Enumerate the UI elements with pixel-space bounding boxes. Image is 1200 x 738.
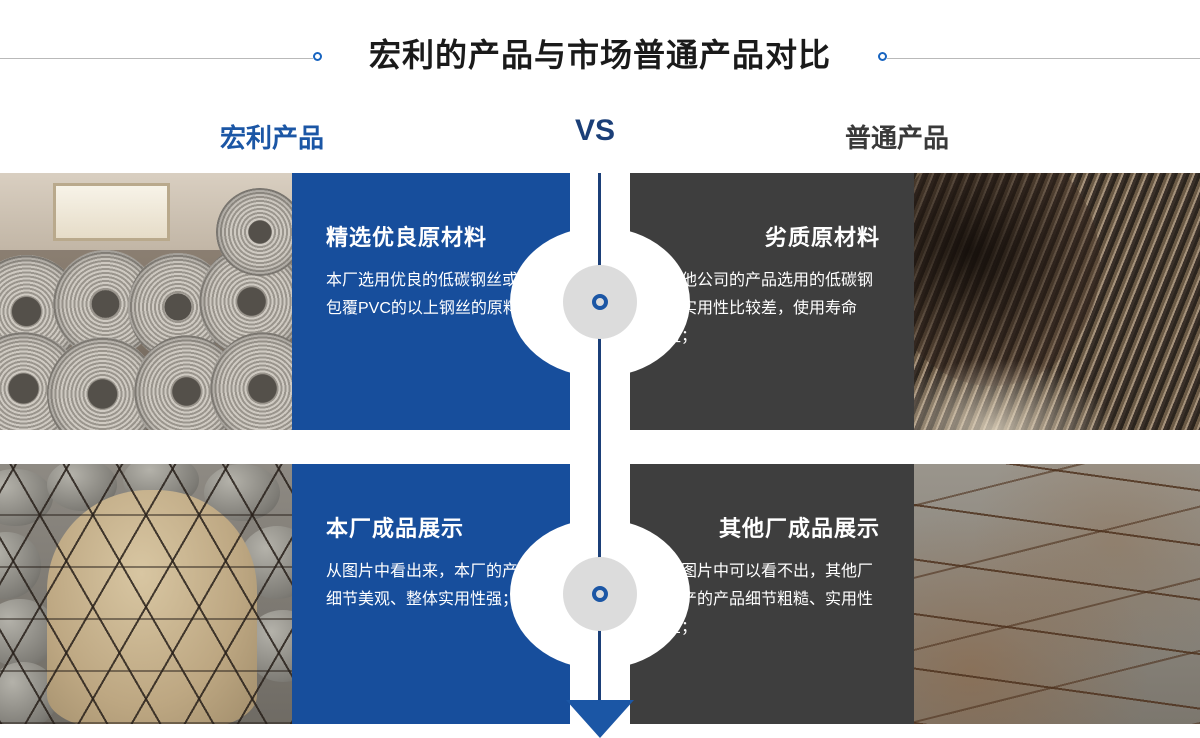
triangle-down-icon [566,700,634,738]
panel-body: 本厂选用优良的低碳钢丝或者包覆PVC的以上钢丝的原料； [326,267,536,323]
photo-left-row-1 [0,173,292,430]
center-divider-line [598,173,601,713]
circle-outline-icon-right [878,52,887,61]
panel-title: 其他厂成品展示 [664,516,880,542]
circle-node-icon-row-1 [563,265,637,339]
panel-body: 从图片中看出来，本厂的产品细节美观、整体实用性强； [326,558,536,614]
panel-body: 其他公司的产品选用的低碳钢丝实用性比较差，使用寿命短； [665,267,880,351]
inner-ring-icon [592,294,608,310]
panel-left-row-2: 本厂成品展示 从图片中看出来，本厂的产品细节美观、整体实用性强； [292,464,570,724]
comparison-infographic: 宏利的产品与市场普通产品对比 宏利产品 VS 普通产品 精选优良原材料 [0,0,1200,738]
panel-right-row-2: 其他厂成品展示 从图片中可以看不出，其他厂生产的产品细节粗糙、实用性差； [630,464,914,724]
photo-right-row-1 [914,173,1200,430]
title-section: 宏利的产品与市场普通产品对比 [0,0,1200,112]
panel-title: 劣质原材料 [664,225,880,251]
panel-right-row-1: 劣质原材料 其他公司的产品选用的低碳钢丝实用性比较差，使用寿命短； [630,173,914,430]
circle-node-icon-row-2 [563,557,637,631]
panel-title: 本厂成品展示 [326,516,536,542]
panel-body: 从图片中可以看不出，其他厂生产的产品细节粗糙、实用性差； [665,558,880,642]
inner-ring-icon [592,586,608,602]
column-heading-left: 宏利产品 [220,118,324,155]
column-heading-right: 普通产品 [845,118,949,155]
photo-right-row-2 [914,464,1200,724]
panel-title: 精选优良原材料 [326,225,536,251]
versus-label: VS [575,114,615,148]
page-title: 宏利的产品与市场普通产品对比 [0,30,1200,76]
title-rule-right [887,58,1200,59]
panel-left-row-1: 精选优良原材料 本厂选用优良的低碳钢丝或者包覆PVC的以上钢丝的原料； [292,173,570,430]
photo-left-row-2 [0,464,292,724]
